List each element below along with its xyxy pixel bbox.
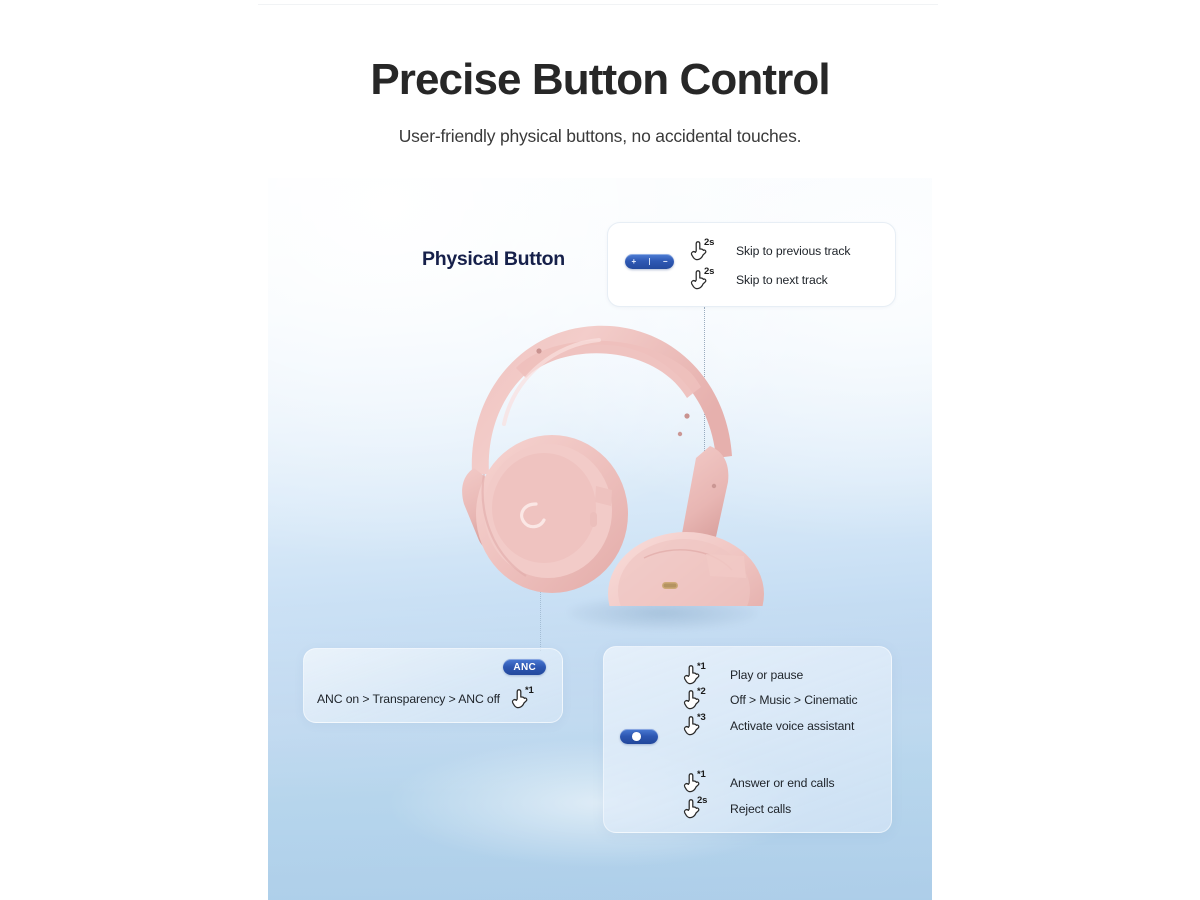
anc-badge[interactable]: ANC [503, 659, 546, 675]
list-item: ANC on > Transparency > ANC off *1 [317, 688, 530, 710]
row-spacer [683, 739, 858, 771]
hand-tap-icon: *3 [683, 715, 702, 737]
list-item: 2s Reject calls [683, 796, 858, 822]
rocker-divider [649, 258, 650, 265]
list-item: 2s Skip to previous track [690, 236, 850, 265]
top-divider [258, 4, 938, 5]
list-item: *1 Answer or end calls [683, 771, 858, 797]
list-item: *3 Activate voice assistant [683, 713, 858, 739]
card-anc-control: ANC ANC on > Transparency > ANC off *1 [303, 648, 563, 723]
list-item: 2s Skip to next track [690, 265, 850, 294]
hand-tap-icon: 2s [690, 269, 709, 291]
hand-tap-icon: *1 [511, 688, 530, 710]
volume-action-list: 2s Skip to previous track 2s Skip to nex… [690, 236, 850, 294]
hand-tap-icon: 2s [683, 798, 702, 820]
action-label: Off > Music > Cinematic [730, 693, 858, 707]
gesture-badge: *2 [697, 686, 706, 697]
page-subtitle: User-friendly physical buttons, no accid… [0, 126, 1200, 147]
action-label: Skip to previous track [736, 244, 850, 258]
section-label-physical-button: Physical Button [422, 248, 565, 271]
header: Precise Button Control User-friendly phy… [0, 56, 1200, 147]
gesture-badge: 2s [704, 237, 714, 248]
gesture-badge: *1 [697, 661, 706, 672]
gesture-badge: 2s [704, 266, 714, 277]
gesture-badge: 2s [697, 795, 707, 806]
action-label: Activate voice assistant [730, 719, 854, 733]
list-item: *1 Play or pause [683, 662, 858, 688]
card-volume-controls: + − 2s Skip to previous track 2 [607, 222, 896, 307]
action-label: Skip to next track [736, 273, 828, 287]
button-knob [632, 732, 641, 741]
hand-tap-icon: *1 [683, 664, 702, 686]
page-title: Precise Button Control [0, 56, 1200, 104]
action-label: Answer or end calls [730, 776, 834, 790]
volume-down-label: − [663, 257, 668, 266]
list-item: *2 Off > Music > Cinematic [683, 688, 858, 714]
hand-tap-icon: 2s [690, 240, 709, 262]
product-scene: Physical Button + − 2s Skip to previous … [268, 178, 932, 900]
hand-tap-icon: *1 [683, 772, 702, 794]
action-label: Play or pause [730, 668, 803, 682]
multifunction-button[interactable] [620, 729, 658, 744]
gesture-badge: *3 [697, 712, 706, 723]
hand-tap-icon: *2 [683, 689, 702, 711]
card-multifunction-control: *1 Play or pause *2 Off > Music > Cinema… [603, 646, 892, 833]
volume-rocker-button[interactable]: + − [625, 254, 674, 269]
anc-sequence-label: ANC on > Transparency > ANC off [317, 692, 500, 706]
multifunction-action-list: *1 Play or pause *2 Off > Music > Cinema… [683, 662, 858, 822]
action-label: Reject calls [730, 802, 791, 816]
headphones-image [444, 306, 764, 606]
gesture-badge: *1 [697, 769, 706, 780]
gesture-badge: *1 [525, 685, 534, 696]
volume-up-label: + [631, 257, 636, 266]
